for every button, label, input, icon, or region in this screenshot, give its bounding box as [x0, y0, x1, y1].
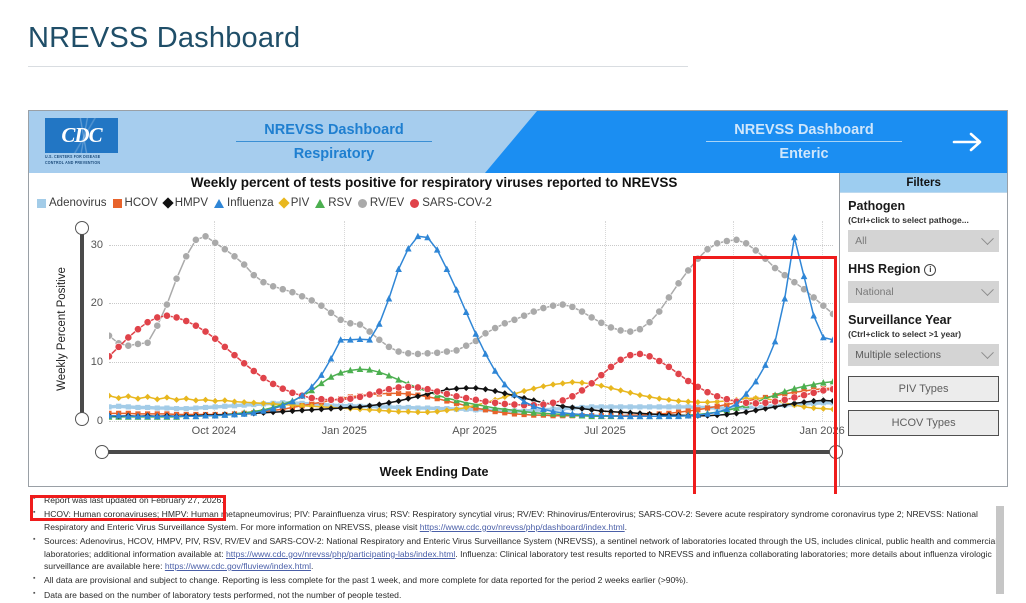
data-point	[347, 395, 354, 402]
data-point	[501, 320, 508, 327]
legend-marker-icon	[162, 197, 173, 208]
x-tick-label: Jul 2025	[584, 425, 626, 437]
data-point	[752, 400, 759, 407]
data-point	[771, 398, 778, 405]
data-point	[163, 301, 170, 308]
x-axis-range-slider[interactable]	[95, 445, 843, 459]
chevron-down-icon	[981, 283, 994, 296]
data-point	[135, 405, 140, 410]
data-point	[193, 405, 198, 410]
x-tick-label: Jan 2026	[799, 425, 844, 437]
data-point	[260, 279, 267, 286]
data-point	[173, 314, 180, 321]
footnotes-panel: Report was last updated on February 27, …	[28, 494, 1008, 603]
data-point	[820, 302, 827, 309]
data-point	[134, 340, 141, 347]
data-point	[578, 387, 585, 394]
filters-header: Filters	[840, 173, 1007, 193]
data-point	[212, 335, 219, 342]
data-point	[762, 255, 769, 262]
legend-item-hmpv[interactable]: HMPV	[164, 197, 208, 209]
filters-pane: Filters Pathogen (Ctrl+click to select p…	[840, 173, 1007, 486]
data-point	[781, 295, 788, 301]
legend-marker-icon	[278, 197, 289, 208]
data-point	[473, 385, 479, 391]
data-point	[241, 360, 248, 367]
data-point	[685, 267, 692, 274]
data-point	[618, 387, 624, 393]
footnote-link[interactable]: https://www.cdc.gov/nrevss/php/participa…	[226, 549, 455, 559]
data-point	[164, 405, 169, 410]
data-point	[212, 398, 218, 404]
data-point	[598, 372, 605, 379]
app-body: Weekly percent of tests positive for res…	[29, 173, 1007, 486]
cdc-logo: CDC U.S. CENTERS FOR DISEASE CONTROL AND…	[45, 118, 131, 166]
data-point	[675, 280, 682, 287]
data-point	[309, 407, 315, 413]
data-point	[569, 379, 575, 385]
data-point	[628, 404, 633, 409]
data-point	[337, 316, 344, 323]
footnote-item: HCOV: Human coronaviruses; HMPV: Human m…	[42, 508, 1008, 533]
data-point	[492, 399, 499, 406]
data-point	[125, 393, 131, 399]
data-point	[714, 240, 721, 247]
tab-respiratory-title: NREVSS Dashboard	[219, 120, 449, 140]
data-point	[646, 353, 653, 360]
data-point	[183, 317, 190, 324]
data-point	[588, 380, 595, 387]
chart-series-svg	[109, 221, 833, 421]
data-point	[221, 246, 228, 253]
legend-label: SARS-COV-2	[422, 197, 492, 209]
data-point	[337, 396, 344, 403]
data-point	[231, 253, 238, 260]
legend-item-influenza[interactable]: Influenza	[214, 197, 274, 209]
surveillance-year-value: Multiple selections	[855, 349, 941, 361]
data-point	[144, 319, 151, 326]
x-slider-knob-right[interactable]	[829, 445, 843, 459]
data-point	[560, 380, 566, 386]
data-point	[829, 386, 833, 393]
data-point	[550, 381, 556, 387]
data-point	[279, 385, 286, 392]
legend-label: PIV	[291, 197, 310, 209]
legend-label: HMPV	[175, 197, 208, 209]
data-point	[791, 234, 798, 240]
data-point	[482, 386, 488, 392]
data-point	[174, 406, 179, 411]
data-point	[289, 289, 296, 296]
legend-label: RSV	[328, 197, 352, 209]
footnote-item: All data are provisional and subject to …	[42, 574, 1008, 586]
data-point	[579, 380, 585, 386]
x-slider-knob-left[interactable]	[95, 445, 109, 459]
legend-label: RV/EV	[370, 197, 404, 209]
cdc-logo-text: CDC	[61, 123, 101, 148]
data-point	[154, 314, 161, 321]
data-point	[704, 389, 711, 396]
tab-enteric-title: NREVSS Dashboard	[689, 120, 919, 140]
data-point	[250, 367, 257, 374]
data-point	[569, 393, 576, 400]
data-point	[762, 362, 769, 368]
chevron-down-icon	[981, 346, 994, 359]
data-point	[164, 394, 170, 400]
data-point	[405, 350, 412, 357]
data-point	[598, 319, 605, 326]
x-axis-label: Week Ending Date	[29, 465, 839, 479]
x-tick-label: Jan 2025	[322, 425, 367, 437]
surveillance-year-select[interactable]: Multiple selections	[848, 344, 999, 366]
data-point	[492, 324, 499, 331]
data-point	[154, 322, 161, 329]
y-tick-label: 30	[91, 239, 103, 251]
data-point	[202, 328, 209, 335]
data-point	[521, 388, 527, 394]
data-point	[109, 404, 112, 409]
data-point	[318, 302, 325, 309]
legend-item-rsv[interactable]: RSV	[315, 197, 352, 209]
chart-pane: Weekly percent of tests positive for res…	[29, 173, 840, 486]
data-point	[183, 253, 190, 260]
legend-marker-icon	[315, 199, 325, 208]
legend-marker-icon	[113, 199, 122, 208]
data-point	[463, 342, 470, 349]
app-banner: CDC U.S. CENTERS FOR DISEASE CONTROL AND…	[29, 111, 1007, 173]
y-axis-label: Weekly Percent Positive	[56, 234, 68, 424]
data-point	[395, 266, 402, 272]
tab-enteric-underline	[706, 141, 902, 142]
data-point	[810, 312, 817, 318]
data-point	[356, 321, 363, 328]
series-influenza	[109, 233, 833, 419]
data-point	[685, 377, 692, 384]
data-point	[115, 343, 122, 350]
chevron-down-icon	[981, 232, 994, 245]
legend-item-adenovirus[interactable]: Adenovirus	[37, 197, 107, 209]
data-point	[636, 350, 643, 357]
data-point	[472, 396, 479, 403]
data-point	[385, 386, 392, 393]
data-point	[213, 404, 218, 409]
footnote-item: Sources: Adenovirus, HCOV, HMPV, PIV, RS…	[42, 535, 1008, 572]
data-point	[473, 330, 480, 336]
data-point	[327, 309, 334, 316]
data-point	[144, 339, 151, 346]
data-point	[618, 404, 623, 409]
data-point	[559, 397, 566, 404]
data-point	[222, 397, 228, 403]
data-point	[289, 389, 296, 396]
data-point	[704, 399, 710, 405]
data-point	[714, 393, 721, 400]
legend-item-hcov[interactable]: HCOV	[113, 197, 158, 209]
data-point	[800, 392, 807, 399]
data-point	[366, 328, 373, 335]
data-point	[241, 261, 248, 268]
surveillance-year-label: Surveillance Year	[848, 313, 999, 328]
data-point	[155, 405, 160, 410]
hhs-region-select[interactable]: National	[848, 281, 999, 303]
data-point	[607, 324, 614, 331]
data-point	[424, 386, 431, 393]
y-slider-track[interactable]	[80, 228, 84, 419]
data-point	[666, 404, 671, 409]
data-point	[675, 398, 681, 404]
x-axis-ticks: Oct 2024Jan 2025Apr 2025Jul 2025Oct 2025…	[109, 425, 833, 441]
data-point	[327, 396, 334, 403]
data-point	[356, 393, 363, 400]
data-point	[617, 356, 624, 363]
filter-group-surveillance-year: Surveillance Year (Ctrl+click to select …	[848, 313, 999, 366]
legend-label: Influenza	[227, 197, 274, 209]
data-point	[810, 389, 817, 396]
data-point	[395, 384, 402, 391]
data-point	[482, 330, 489, 337]
footnote-link[interactable]: https://www.cdc.gov/fluview/index.html	[165, 561, 311, 571]
data-point	[665, 294, 672, 301]
data-point	[791, 279, 798, 286]
data-point	[607, 363, 614, 370]
y-tick-label: 10	[91, 356, 103, 368]
data-point	[134, 326, 141, 333]
data-point	[434, 388, 441, 395]
data-point	[820, 387, 827, 394]
next-arrow-icon[interactable]	[951, 129, 985, 155]
hhs-region-label: HHS Region i	[848, 262, 999, 277]
data-point	[184, 406, 189, 411]
y-gridline	[109, 421, 833, 422]
data-point	[173, 397, 179, 403]
data-point	[318, 396, 325, 403]
data-point	[665, 363, 672, 370]
data-point	[704, 246, 711, 253]
data-point	[405, 383, 412, 390]
data-point	[820, 406, 826, 412]
data-point	[328, 355, 335, 361]
data-point	[279, 286, 286, 293]
data-point	[549, 302, 556, 309]
tab-enteric-subtitle: Enteric	[689, 144, 919, 164]
footnotes-scrollbar[interactable]	[996, 506, 1004, 594]
data-point	[135, 396, 141, 402]
data-point	[781, 396, 788, 403]
data-point	[627, 352, 634, 359]
data-point	[657, 404, 662, 409]
data-point	[347, 320, 354, 327]
data-point	[308, 394, 315, 401]
data-point	[109, 393, 112, 399]
tab-respiratory-underline	[236, 141, 432, 142]
data-point	[125, 334, 132, 341]
data-point	[695, 399, 701, 405]
data-point	[530, 308, 537, 315]
data-point	[298, 293, 305, 300]
cdc-tagline-line2: CONTROL AND PREVENTION	[45, 160, 131, 166]
data-point	[675, 370, 682, 377]
data-point	[781, 272, 788, 279]
data-point	[743, 399, 750, 406]
surveillance-year-hint: (Ctrl+click to select >1 year)	[848, 328, 999, 340]
y-tick-label: 20	[91, 297, 103, 309]
y-slider-knob-top[interactable]	[75, 221, 89, 235]
data-point	[752, 247, 759, 254]
x-tick-label: Oct 2024	[192, 425, 237, 437]
data-point	[453, 286, 460, 292]
data-point	[453, 393, 460, 400]
data-point	[482, 350, 489, 356]
data-point	[443, 348, 450, 355]
pathogen-hint: (Ctrl+click to select pathoge...	[848, 214, 999, 226]
data-point	[116, 395, 122, 401]
data-point	[771, 264, 778, 271]
data-point	[126, 404, 131, 409]
x-slider-track[interactable]	[102, 450, 836, 454]
pathogen-select[interactable]: All	[848, 230, 999, 252]
data-point	[212, 239, 219, 246]
data-point	[125, 342, 132, 349]
filter-group-hhs-region: HHS Region i National	[848, 262, 999, 303]
data-point	[376, 388, 383, 395]
tab-enteric[interactable]: NREVSS Dashboard Enteric	[689, 120, 919, 164]
data-point	[463, 385, 469, 391]
data-point	[453, 386, 459, 392]
data-point	[733, 236, 740, 243]
chart-legend: AdenovirusHCOVHMPVInfluenzaPIVRSVRV/EVSA…	[37, 197, 492, 209]
data-point	[637, 404, 642, 409]
data-point	[694, 255, 701, 262]
data-point	[608, 385, 614, 391]
legend-item-sars-cov-2[interactable]: SARS-COV-2	[410, 197, 492, 209]
data-point	[453, 347, 460, 354]
data-point	[395, 348, 402, 355]
legend-item-rv-ev[interactable]: RV/EV	[358, 197, 404, 209]
data-point	[666, 397, 672, 403]
data-point	[222, 404, 227, 409]
data-point	[482, 398, 489, 405]
data-point	[743, 240, 750, 247]
nrevss-app-frame: CDC U.S. CENTERS FOR DISEASE CONTROL AND…	[28, 110, 1008, 487]
data-point	[376, 336, 383, 343]
data-point	[221, 343, 228, 350]
data-point	[772, 338, 779, 344]
piv-types-button[interactable]: PIV Types	[848, 376, 999, 402]
data-point	[192, 322, 199, 329]
data-point	[733, 410, 739, 416]
title-divider	[28, 66, 688, 67]
data-point	[260, 374, 267, 381]
x-tick-label: Oct 2025	[711, 425, 756, 437]
data-point	[511, 316, 518, 323]
data-point	[617, 327, 624, 334]
tab-respiratory[interactable]: NREVSS Dashboard Respiratory	[219, 120, 449, 164]
data-point	[598, 383, 604, 389]
data-point	[646, 394, 652, 400]
footnote-item: Report was last updated on February 27, …	[42, 494, 1008, 506]
page-title: NREVSS Dashboard	[28, 22, 300, 55]
data-point	[588, 314, 595, 321]
data-point	[501, 400, 508, 407]
data-point	[308, 297, 315, 304]
pathogen-value: All	[855, 235, 867, 247]
data-point	[443, 390, 450, 397]
data-point	[791, 394, 798, 401]
filter-group-pathogen: Pathogen (Ctrl+click to select pathoge..…	[848, 199, 999, 252]
data-point	[385, 343, 392, 350]
legend-label: Adenovirus	[49, 197, 107, 209]
data-point	[376, 320, 383, 326]
data-point	[830, 406, 833, 412]
legend-marker-icon	[214, 199, 224, 208]
data-point	[540, 304, 547, 311]
data-point	[173, 275, 180, 282]
info-icon[interactable]: i	[924, 264, 936, 276]
data-point	[270, 380, 277, 387]
data-point	[820, 334, 827, 340]
data-point	[318, 380, 325, 386]
data-point	[656, 357, 663, 364]
data-point	[192, 236, 199, 243]
legend-marker-icon	[37, 199, 46, 208]
footnote-link[interactable]: https://www.cdc.gov/nrevss/php/dashboard…	[420, 522, 625, 532]
data-point	[647, 404, 652, 409]
legend-marker-icon	[358, 199, 367, 208]
data-point	[656, 396, 662, 402]
y-slider-knob-bottom[interactable]	[75, 412, 89, 426]
data-point	[414, 350, 421, 357]
data-point	[685, 398, 691, 404]
data-point	[810, 294, 817, 301]
hhs-region-value: National	[855, 286, 894, 298]
chart-title: Weekly percent of tests positive for res…	[29, 175, 839, 190]
y-axis-range-slider[interactable]	[75, 221, 89, 426]
data-point	[723, 237, 730, 244]
data-point	[202, 233, 209, 240]
hcov-types-button[interactable]: HCOV Types	[848, 410, 999, 436]
data-point	[366, 391, 373, 398]
data-point	[801, 273, 808, 279]
data-point	[492, 388, 498, 394]
data-point	[531, 386, 537, 392]
series-sars-cov-2	[109, 312, 833, 409]
data-point	[762, 399, 769, 406]
data-point	[231, 352, 238, 359]
data-point	[627, 390, 633, 396]
data-point	[578, 308, 585, 315]
data-point	[424, 350, 431, 357]
data-point	[434, 349, 441, 356]
data-point	[270, 283, 277, 290]
data-point	[694, 383, 701, 390]
data-point	[627, 328, 634, 335]
footnote-item: Data are based on the number of laborato…	[42, 589, 1008, 601]
data-point	[183, 396, 189, 402]
legend-item-piv[interactable]: PIV	[280, 197, 310, 209]
tab-respiratory-subtitle: Respiratory	[219, 144, 449, 164]
data-point	[163, 312, 170, 319]
data-point	[444, 266, 451, 272]
chart-plot-area: 0102030	[109, 221, 833, 421]
data-point	[676, 404, 681, 409]
data-point	[549, 399, 556, 406]
data-point	[723, 396, 730, 403]
data-point	[463, 309, 470, 315]
data-point	[646, 319, 653, 326]
data-point	[250, 272, 257, 279]
data-point	[193, 397, 199, 403]
hhs-region-label-text: HHS Region	[848, 262, 920, 277]
